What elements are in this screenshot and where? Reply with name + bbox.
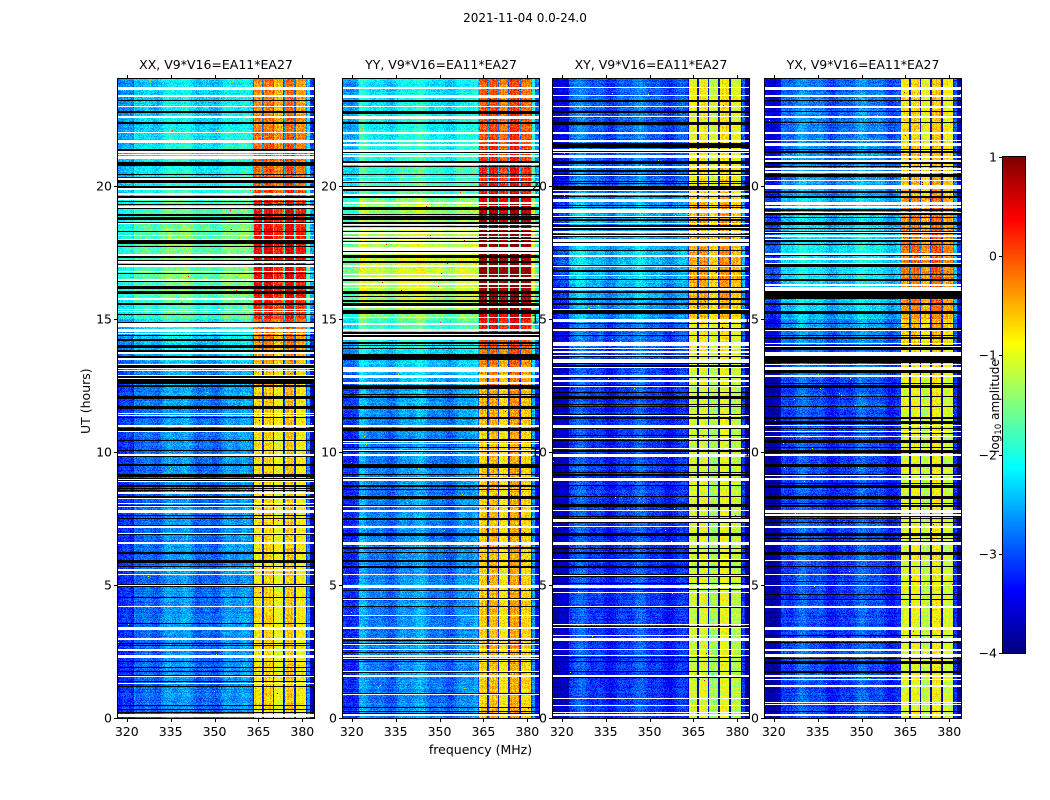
y-tick-mark bbox=[114, 452, 118, 453]
x-tick-label: 365 bbox=[681, 724, 705, 739]
y-tick-label: 15 bbox=[309, 311, 337, 326]
x-tick-label: 320 bbox=[340, 724, 364, 739]
y-tick-mark bbox=[114, 319, 118, 320]
y-tick-mark bbox=[761, 186, 765, 187]
colorbar bbox=[1002, 156, 1026, 654]
y-tick-mark bbox=[761, 718, 765, 719]
x-tick-mark-top bbox=[258, 75, 259, 79]
x-tick-label: 320 bbox=[550, 724, 574, 739]
x-tick-label: 350 bbox=[428, 724, 452, 739]
panel-title-yy: YY, V9*V16=EA11*EA27 bbox=[365, 57, 517, 72]
x-tick-mark-top bbox=[862, 75, 863, 79]
y-tick-mark bbox=[761, 585, 765, 586]
spectrogram-image-yy bbox=[343, 79, 539, 718]
waterfall-panel-yy: YY, V9*V16=EA11*EA27 bbox=[342, 78, 540, 719]
x-tick-mark bbox=[396, 718, 397, 722]
x-tick-mark-top bbox=[352, 75, 353, 79]
y-axis-label: UT (hours) bbox=[78, 368, 93, 434]
x-tick-mark-top bbox=[171, 75, 172, 79]
x-tick-mark bbox=[171, 718, 172, 722]
x-tick-mark-top bbox=[650, 75, 651, 79]
x-tick-mark bbox=[862, 718, 863, 722]
x-tick-mark bbox=[215, 718, 216, 722]
x-tick-label: 365 bbox=[893, 724, 917, 739]
x-tick-label: 380 bbox=[515, 724, 539, 739]
colorbar-label: log10 amplitude bbox=[988, 359, 1004, 453]
panel-title-xx: XX, V9*V16=EA11*EA27 bbox=[139, 57, 293, 72]
y-tick-label: 20 bbox=[309, 178, 337, 193]
waterfall-panel-xx: XX, V9*V16=EA11*EA27 bbox=[117, 78, 315, 719]
y-tick-label: 5 bbox=[731, 577, 759, 592]
x-tick-label: 380 bbox=[725, 724, 749, 739]
colorbar-tick-mark bbox=[999, 157, 1003, 158]
x-tick-mark bbox=[562, 718, 563, 722]
y-tick-label: 0 bbox=[519, 711, 547, 726]
figure-suptitle: 2021-11-04 0.0-24.0 bbox=[0, 11, 1050, 25]
y-tick-mark bbox=[339, 718, 343, 719]
x-tick-mark-top bbox=[396, 75, 397, 79]
y-tick-mark bbox=[114, 718, 118, 719]
colorbar-tick-mark bbox=[999, 554, 1003, 555]
y-tick-label: 15 bbox=[731, 311, 759, 326]
x-tick-mark bbox=[483, 718, 484, 722]
colorbar-tick-label: 0 bbox=[967, 249, 997, 264]
y-tick-label: 0 bbox=[84, 711, 112, 726]
x-tick-label: 365 bbox=[246, 724, 270, 739]
x-tick-mark-top bbox=[440, 75, 441, 79]
x-tick-mark bbox=[440, 718, 441, 722]
colorbar-tick-label: 1 bbox=[967, 150, 997, 165]
y-tick-label: 5 bbox=[84, 577, 112, 592]
y-tick-label: 10 bbox=[731, 444, 759, 459]
y-tick-label: 0 bbox=[731, 711, 759, 726]
x-tick-label: 365 bbox=[471, 724, 495, 739]
x-tick-mark-top bbox=[818, 75, 819, 79]
y-tick-label: 10 bbox=[84, 444, 112, 459]
x-tick-label: 320 bbox=[762, 724, 786, 739]
panel-title-xy: XY, V9*V16=EA11*EA27 bbox=[575, 57, 728, 72]
x-tick-mark bbox=[127, 718, 128, 722]
colorbar-tick-mark bbox=[999, 355, 1003, 356]
y-tick-label: 20 bbox=[84, 178, 112, 193]
colorbar-label-post: amplitude bbox=[988, 359, 1002, 423]
x-tick-label: 335 bbox=[594, 724, 618, 739]
x-tick-mark bbox=[258, 718, 259, 722]
x-tick-mark bbox=[949, 718, 950, 722]
colorbar-tick-mark bbox=[999, 256, 1003, 257]
x-tick-mark-top bbox=[483, 75, 484, 79]
y-tick-mark bbox=[549, 186, 553, 187]
x-tick-mark-top bbox=[215, 75, 216, 79]
y-tick-mark bbox=[339, 319, 343, 320]
x-tick-mark-top bbox=[562, 75, 563, 79]
x-tick-mark bbox=[650, 718, 651, 722]
spectrogram-image-xy bbox=[553, 79, 749, 718]
y-tick-mark bbox=[549, 718, 553, 719]
x-tick-mark bbox=[774, 718, 775, 722]
x-tick-mark bbox=[352, 718, 353, 722]
colorbar-tick-label: −3 bbox=[967, 546, 997, 561]
x-tick-mark-top bbox=[302, 75, 303, 79]
spectrogram-image-yx bbox=[765, 79, 961, 718]
panel-title-yx: YX, V9*V16=EA11*EA27 bbox=[787, 57, 940, 72]
x-tick-label: 335 bbox=[384, 724, 408, 739]
spectrogram-image-xx bbox=[118, 79, 314, 718]
colorbar-label-sub: 10 bbox=[994, 424, 1004, 435]
x-tick-label: 380 bbox=[290, 724, 314, 739]
x-tick-mark bbox=[905, 718, 906, 722]
colorbar-tick-label: −4 bbox=[967, 646, 997, 661]
y-tick-label: 5 bbox=[309, 577, 337, 592]
x-tick-label: 335 bbox=[159, 724, 183, 739]
colorbar-label-pre: log bbox=[988, 435, 1002, 453]
x-tick-mark bbox=[606, 718, 607, 722]
y-tick-mark bbox=[339, 452, 343, 453]
x-tick-mark-top bbox=[127, 75, 128, 79]
y-tick-label: 0 bbox=[309, 711, 337, 726]
y-tick-mark bbox=[761, 319, 765, 320]
x-tick-mark bbox=[818, 718, 819, 722]
x-tick-label: 350 bbox=[203, 724, 227, 739]
y-tick-mark bbox=[549, 452, 553, 453]
y-tick-mark bbox=[549, 319, 553, 320]
y-tick-label: 10 bbox=[309, 444, 337, 459]
y-tick-label: 20 bbox=[731, 178, 759, 193]
colorbar-tick-mark bbox=[999, 653, 1003, 654]
colorbar-gradient bbox=[1003, 157, 1025, 653]
y-tick-label: 10 bbox=[519, 444, 547, 459]
y-tick-mark bbox=[339, 585, 343, 586]
colorbar-tick-mark bbox=[999, 455, 1003, 456]
waterfall-panel-yx: YX, V9*V16=EA11*EA27 bbox=[764, 78, 962, 719]
y-tick-label: 15 bbox=[84, 311, 112, 326]
y-tick-label: 5 bbox=[519, 577, 547, 592]
y-tick-label: 20 bbox=[519, 178, 547, 193]
x-tick-mark-top bbox=[905, 75, 906, 79]
x-tick-label: 350 bbox=[638, 724, 662, 739]
x-tick-label: 350 bbox=[850, 724, 874, 739]
y-tick-label: 15 bbox=[519, 311, 547, 326]
x-tick-mark bbox=[302, 718, 303, 722]
x-tick-mark-top bbox=[949, 75, 950, 79]
x-tick-mark-top bbox=[693, 75, 694, 79]
waterfall-panel-xy: XY, V9*V16=EA11*EA27 bbox=[552, 78, 750, 719]
y-tick-mark bbox=[339, 186, 343, 187]
y-tick-mark bbox=[761, 452, 765, 453]
x-tick-label: 320 bbox=[115, 724, 139, 739]
x-tick-mark-top bbox=[527, 75, 528, 79]
x-tick-label: 335 bbox=[806, 724, 830, 739]
x-tick-mark-top bbox=[737, 75, 738, 79]
x-axis-label: frequency (MHz) bbox=[0, 742, 961, 757]
figure-canvas: 2021-11-04 0.0-24.0 XX, V9*V16=EA11*EA27… bbox=[0, 0, 1050, 800]
x-tick-mark bbox=[693, 718, 694, 722]
x-tick-mark-top bbox=[774, 75, 775, 79]
y-tick-mark bbox=[549, 585, 553, 586]
x-tick-mark-top bbox=[606, 75, 607, 79]
y-tick-mark bbox=[114, 585, 118, 586]
y-tick-mark bbox=[114, 186, 118, 187]
x-tick-label: 380 bbox=[937, 724, 961, 739]
